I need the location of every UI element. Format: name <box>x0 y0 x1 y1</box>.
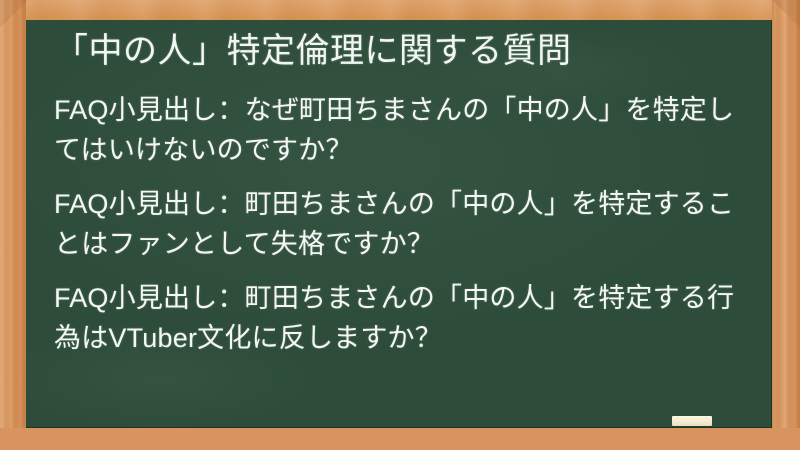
page-title: 「中の人」特定倫理に関する質問 <box>54 28 749 74</box>
chalkboard-content: 「中の人」特定倫理に関する質問 FAQ小見出し：なぜ町田ちまさんの「中の人」を特… <box>54 28 749 358</box>
frame-plank-right <box>772 0 800 450</box>
faq-item-1: FAQ小見出し：なぜ町田ちまさんの「中の人」を特定してはいけないのですか？ <box>54 90 749 170</box>
chalk-stick-icon <box>672 416 712 426</box>
faq-list: FAQ小見出し：なぜ町田ちまさんの「中の人」を特定してはいけないのですか？ FA… <box>54 90 749 358</box>
frame-plank-top <box>0 0 800 20</box>
faq-item-3: FAQ小見出し：町田ちまさんの「中の人」を特定する行為はVTuber文化に反しま… <box>54 278 749 358</box>
faq-item-2: FAQ小見出し：町田ちまさんの「中の人」を特定することはファンとして失格ですか？ <box>54 184 749 264</box>
blackboard-frame: 「中の人」特定倫理に関する質問 FAQ小見出し：なぜ町田ちまさんの「中の人」を特… <box>0 0 800 450</box>
chalkboard-surface: 「中の人」特定倫理に関する質問 FAQ小見出し：なぜ町田ちまさんの「中の人」を特… <box>26 20 772 428</box>
frame-plank-left <box>0 0 26 450</box>
frame-plank-bottom <box>0 428 800 450</box>
